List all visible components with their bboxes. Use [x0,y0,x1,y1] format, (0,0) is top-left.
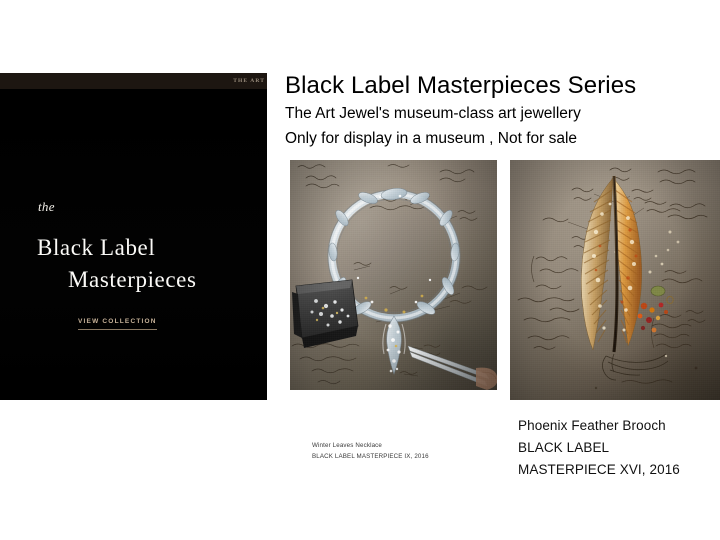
page-title: Black Label Masterpieces Series [285,72,720,100]
necklace-sketch-illustration [290,160,497,390]
necklace-caption-line-1: Winter Leaves Necklace [312,441,429,452]
hero-title-line-2: Masterpieces [68,268,197,291]
feather-caption-line-3: MASTERPIECE XVI, 2016 [518,459,680,481]
feather-caption-line-2: BLACK LABEL [518,437,680,459]
black-label-hero-panel: THE ART the Black Label Masterpieces VIE… [0,73,267,400]
hero-top-bar: THE ART [0,73,267,89]
subtitle-line-1: The Art Jewel's museum-class art jewelle… [285,103,720,125]
necklace-design-photo [290,160,497,390]
feather-caption-line-1: Phoenix Feather Brooch [518,415,680,437]
subtitle-line-2: Only for display in a museum , Not for s… [285,128,720,150]
brand-mark-label: THE ART [233,78,267,84]
necklace-caption-line-2: BLACK LABEL MASTERPIECE IX, 2016 [312,452,429,463]
feather-caption: Phoenix Feather Brooch BLACK LABEL MASTE… [518,415,680,481]
view-collection-button[interactable]: VIEW COLLECTION [78,318,157,330]
hero-the-word: the [38,199,55,215]
feather-design-photo [510,160,720,400]
heading-block: Black Label Masterpieces Series The Art … [285,72,720,150]
hero-title-line-1: Black Label [37,236,155,259]
feather-sketch-illustration [510,160,720,400]
necklace-caption: Winter Leaves Necklace BLACK LABEL MASTE… [312,441,429,463]
